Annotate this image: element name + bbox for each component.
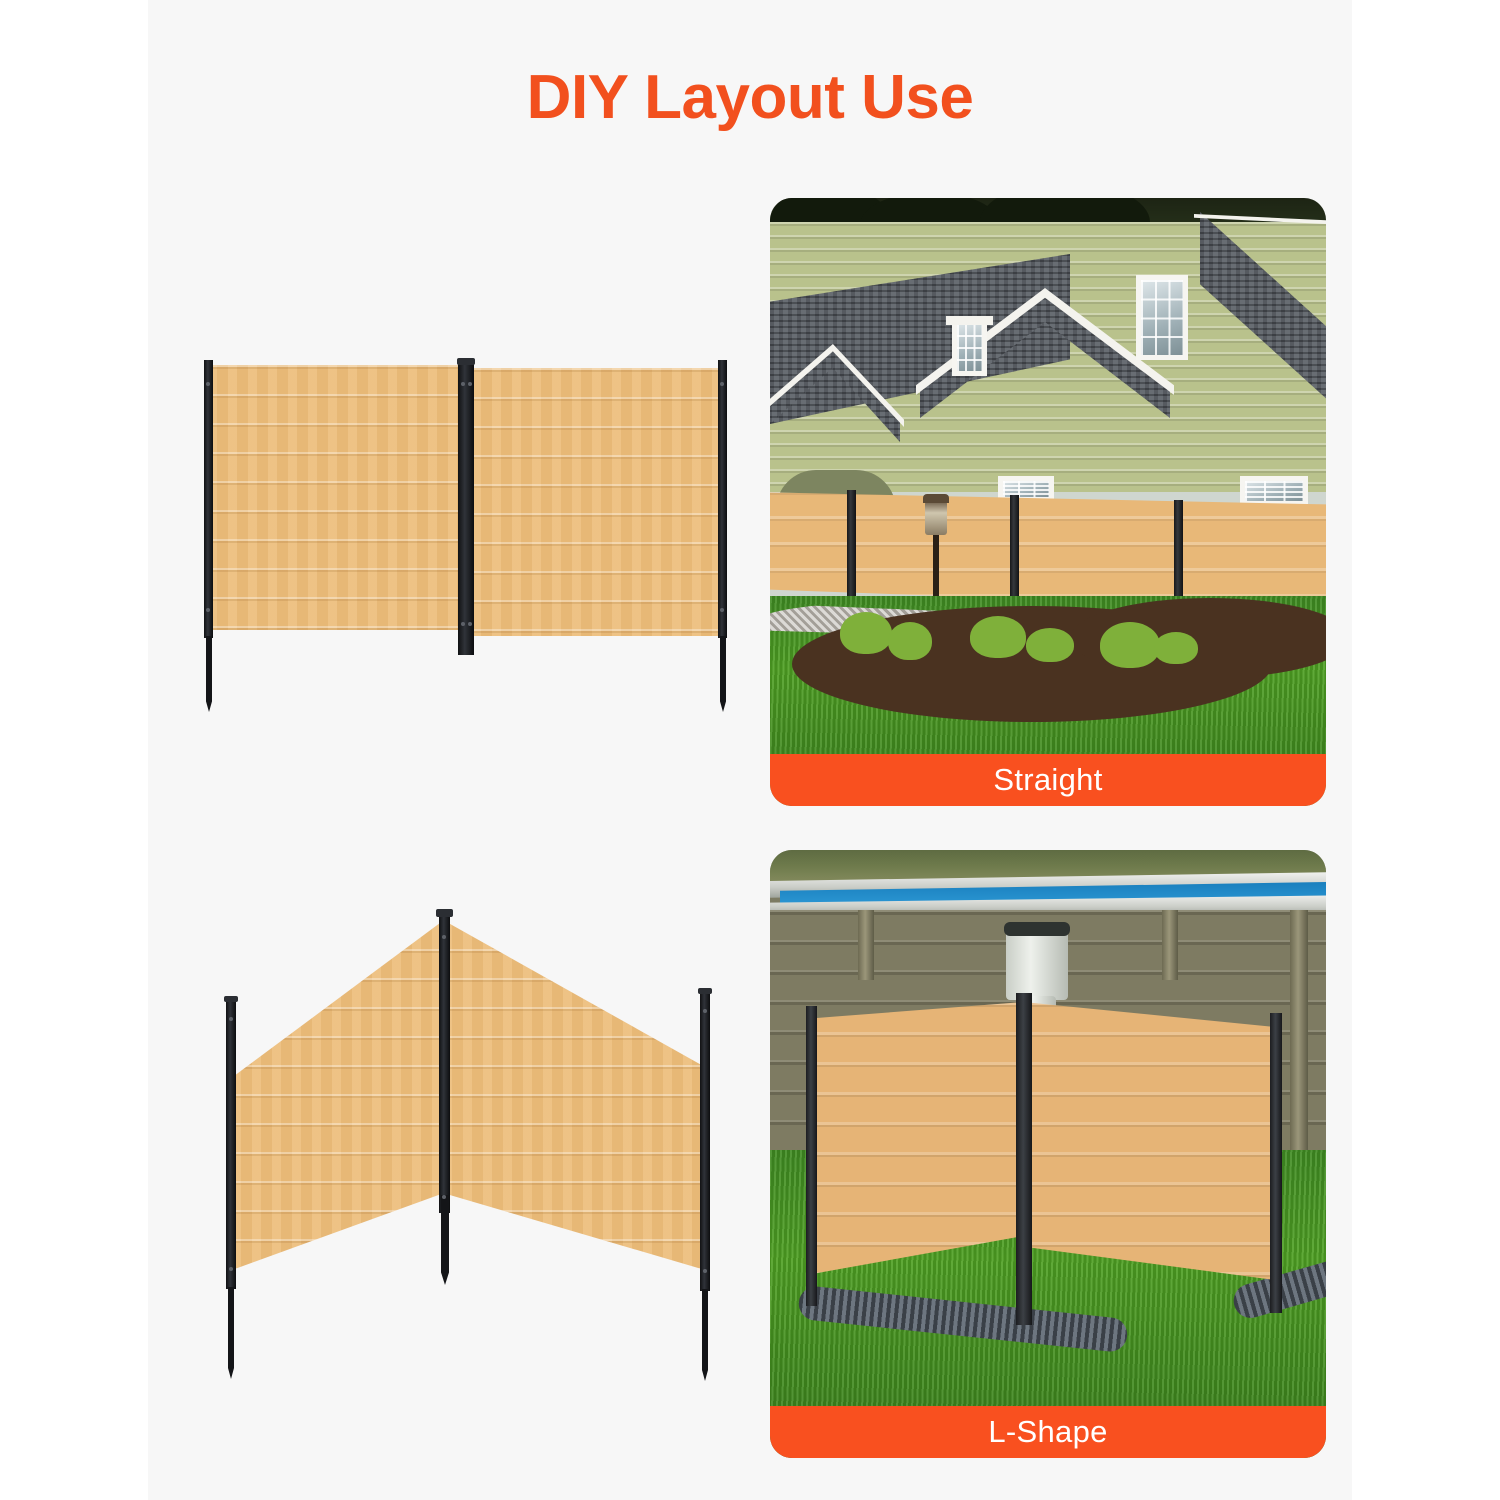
post-bolt: [206, 608, 210, 612]
post-bolt: [461, 622, 465, 626]
post-bolt: [229, 1267, 233, 1271]
pool-wall-post: [858, 910, 874, 980]
ground-stake-right: [720, 636, 726, 712]
fence-post-left: [226, 999, 236, 1289]
photo-card-lshape[interactable]: L-Shape: [770, 850, 1326, 1458]
window-header-mid: [946, 316, 993, 325]
photo-lshape-scene: [770, 850, 1326, 1458]
house-window-upper: [1136, 275, 1188, 360]
post-bolt: [206, 382, 210, 386]
fence-panel-left: [208, 365, 460, 630]
fence-panel-left-wing: [232, 920, 444, 1270]
shrub: [888, 622, 932, 660]
pool-wall-post: [1162, 910, 1178, 980]
product-illustration-lshape: [200, 895, 745, 1385]
fence-panel-right-wing: [443, 920, 705, 1270]
fence-post-right: [718, 360, 727, 638]
post-bolt: [442, 935, 446, 939]
house-window-mid: [952, 318, 987, 376]
product-illustration-straight: [190, 340, 735, 730]
post-cap-right: [698, 988, 712, 994]
pool-skimmer: [1006, 928, 1068, 1000]
screen-post-corner: [1016, 993, 1032, 1325]
fence-post-right: [700, 991, 710, 1291]
shrub: [970, 616, 1026, 658]
post-cap-center: [457, 358, 475, 365]
post-bolt: [703, 1009, 707, 1013]
screen-panel-right: [1023, 1002, 1275, 1280]
ground-stake-corner: [441, 1195, 449, 1285]
caption-straight: Straight: [770, 754, 1326, 806]
post-cap-corner: [436, 909, 453, 917]
post-bolt: [468, 382, 472, 386]
garden-lamp-cap: [923, 494, 949, 503]
pool-wall-post: [1290, 910, 1308, 1160]
shrub: [840, 612, 892, 654]
product-infographic: DIY Layout Use: [0, 0, 1500, 1500]
shrub: [1026, 628, 1074, 662]
photo-straight-scene: [770, 198, 1326, 806]
caption-lshape: L-Shape: [770, 1406, 1326, 1458]
ground-stake-left: [228, 1287, 234, 1379]
post-bolt: [442, 1195, 446, 1199]
ground-stake-left: [206, 636, 212, 712]
page-title: DIY Layout Use: [0, 62, 1500, 133]
garden-lamp-head: [925, 501, 947, 535]
photo-card-straight[interactable]: Straight: [770, 198, 1326, 806]
fence-post-center: [458, 360, 474, 655]
post-bolt: [720, 382, 724, 386]
post-bolt: [703, 1269, 707, 1273]
post-bolt: [229, 1017, 233, 1021]
screen-panel-left: [812, 1002, 1024, 1274]
post-bolt: [468, 622, 472, 626]
post-cap-left: [224, 996, 238, 1002]
post-bolt: [461, 382, 465, 386]
ground-stake-right: [702, 1289, 708, 1381]
fence-panel-right: [472, 368, 721, 636]
shrub: [1154, 632, 1198, 664]
fence-post-corner: [439, 913, 450, 1213]
fence-post-left: [204, 360, 213, 638]
screen-post-right: [1270, 1013, 1282, 1313]
pool-skimmer-lid: [1004, 922, 1070, 936]
post-bolt: [720, 608, 724, 612]
shrub: [1100, 622, 1160, 668]
house-window-basement-right: [1240, 476, 1308, 506]
screen-post-left: [806, 1006, 817, 1306]
